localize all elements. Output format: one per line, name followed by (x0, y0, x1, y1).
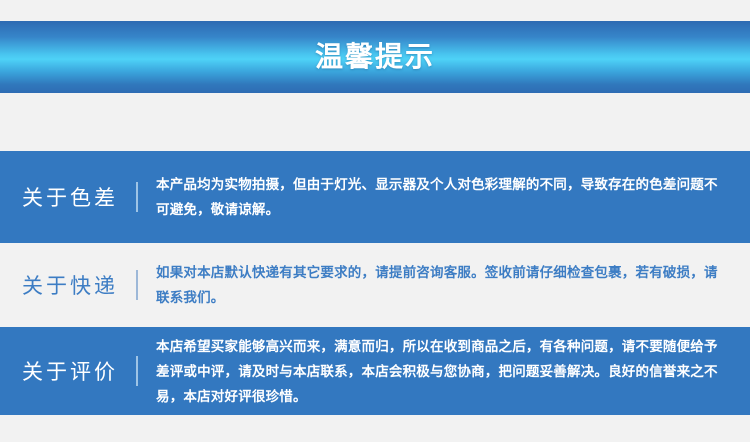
notice-section-color-difference: 关于色差 本产品均为实物拍摄，但由于灯光、显示器及个人对色彩理解的不同，导致存在… (0, 151, 750, 243)
vertical-divider (136, 356, 138, 386)
section-body-text: 本产品均为实物拍摄，但由于灯光、显示器及个人对色彩理解的不同，导致存在的色差问题… (156, 172, 750, 222)
section-body-text: 本店希望买家能够高兴而来，满意而归，所以在收到商品之后，有各种问题，请不要随便给… (156, 334, 750, 409)
section-heading: 关于评价 (0, 356, 132, 386)
section-heading: 关于快递 (0, 270, 132, 300)
notice-page: 温馨提示 关于色差 本产品均为实物拍摄，但由于灯光、显示器及个人对色彩理解的不同… (0, 0, 750, 442)
section-body-text: 如果对本店默认快递有其它要求的，请提前咨询客服。签收前请仔细检查包裹，若有破损，… (156, 260, 750, 310)
vertical-divider (136, 270, 138, 300)
vertical-divider (136, 182, 138, 212)
notice-section-reviews: 关于评价 本店希望买家能够高兴而来，满意而归，所以在收到商品之后，有各种问题，请… (0, 327, 750, 415)
section-heading: 关于色差 (0, 182, 132, 212)
page-title: 温馨提示 (315, 43, 435, 71)
notice-section-shipping: 关于快递 如果对本店默认快递有其它要求的，请提前咨询客服。签收前请仔细检查包裹，… (0, 243, 750, 327)
header-banner: 温馨提示 (0, 21, 750, 93)
